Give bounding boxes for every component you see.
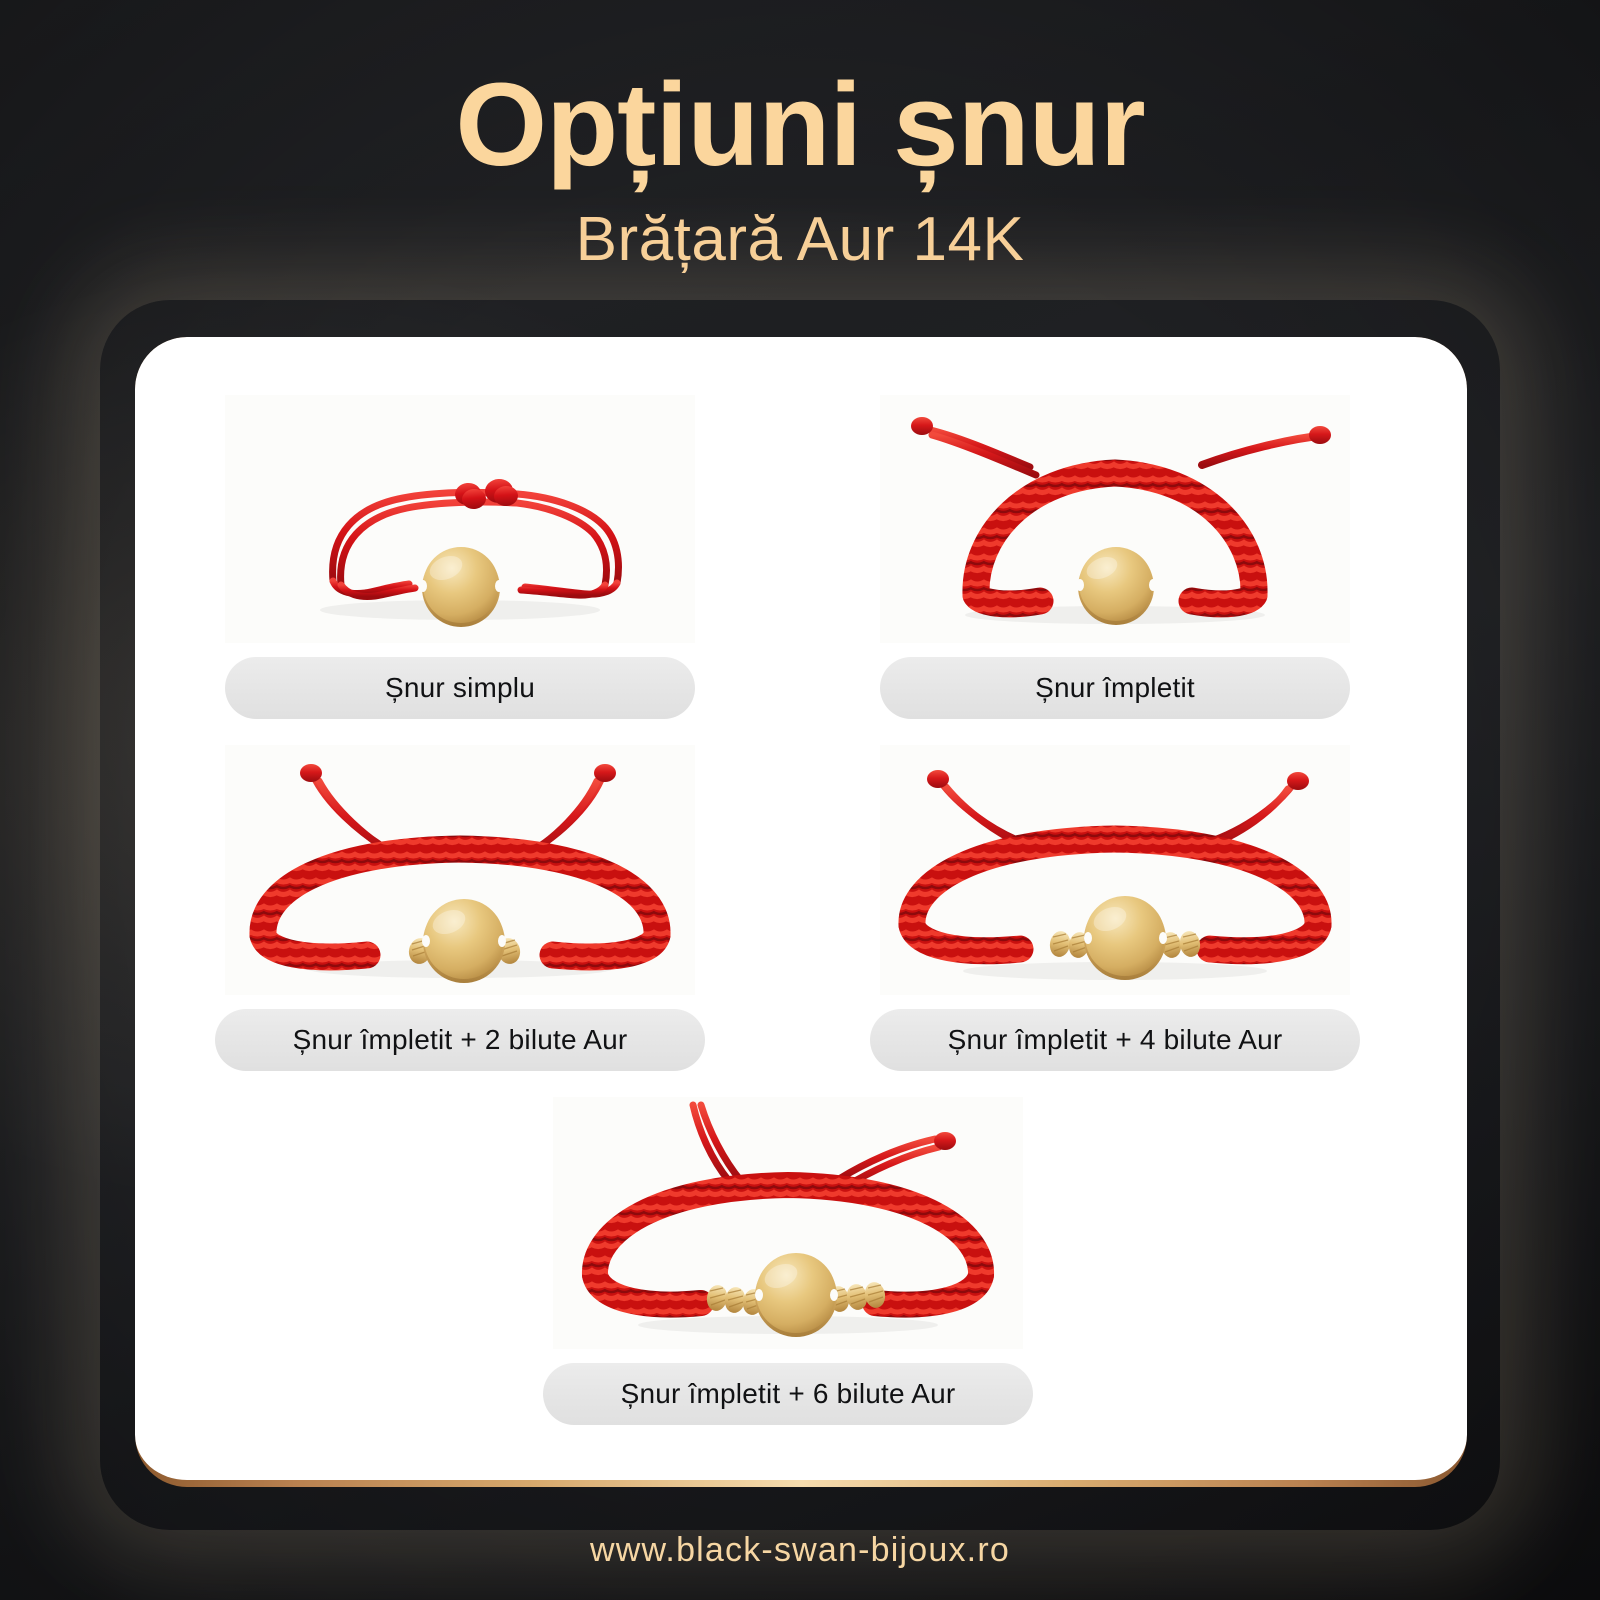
header: Opțiuni șnur Brățară Aur 14K (0, 0, 1600, 320)
option-label: Șnur împletit + 2 bilute Aur (293, 1024, 628, 1056)
option-label-pill[interactable]: Șnur împletit + 4 bilute Aur (870, 1009, 1360, 1071)
option-label-pill[interactable]: Șnur simplu (225, 657, 695, 719)
footer-website-url[interactable]: www.black-swan-bijoux.ro (590, 1531, 1010, 1570)
option-label-pill[interactable]: Șnur împletit (880, 657, 1350, 719)
bracelet-thumbnail (225, 395, 695, 643)
option-item[interactable]: Șnur împletit + 2 bilute Aur (225, 745, 695, 995)
page-title: Opțiuni șnur (0, 0, 1600, 184)
option-label: Șnur împletit + 6 bilute Aur (621, 1378, 956, 1410)
option-label-pill[interactable]: Șnur împletit + 2 bilute Aur (215, 1009, 705, 1071)
option-label-pill[interactable]: Șnur împletit + 6 bilute Aur (543, 1363, 1033, 1425)
option-item[interactable]: Șnur împletit + 4 bilute Aur (880, 745, 1350, 995)
bracelet-thumbnail (553, 1097, 1023, 1349)
option-label: Șnur împletit (1035, 672, 1195, 704)
option-item[interactable]: Șnur împletit + 6 bilute Aur (553, 1097, 1023, 1349)
footer: www.black-swan-bijoux.ro (0, 1500, 1600, 1600)
bracelet-simple-cord-icon (225, 395, 695, 643)
page-subtitle: Brățară Aur 14K (0, 184, 1600, 274)
option-label: Șnur împletit + 4 bilute Aur (948, 1024, 1283, 1056)
bracelet-braided-cord-icon (880, 395, 1350, 643)
option-label: Șnur simplu (385, 672, 535, 704)
bracelet-braided-6-beads-icon (553, 1097, 1023, 1349)
bracelet-thumbnail (225, 745, 695, 995)
bracelet-braided-2-beads-icon (225, 745, 695, 995)
option-item[interactable]: Șnur împletit (880, 395, 1350, 643)
options-card: Șnur simplu (135, 337, 1467, 1487)
bracelet-braided-4-beads-icon (880, 745, 1350, 995)
bracelet-thumbnail (880, 395, 1350, 643)
option-item[interactable]: Șnur simplu (225, 395, 695, 643)
bracelet-thumbnail (880, 745, 1350, 995)
